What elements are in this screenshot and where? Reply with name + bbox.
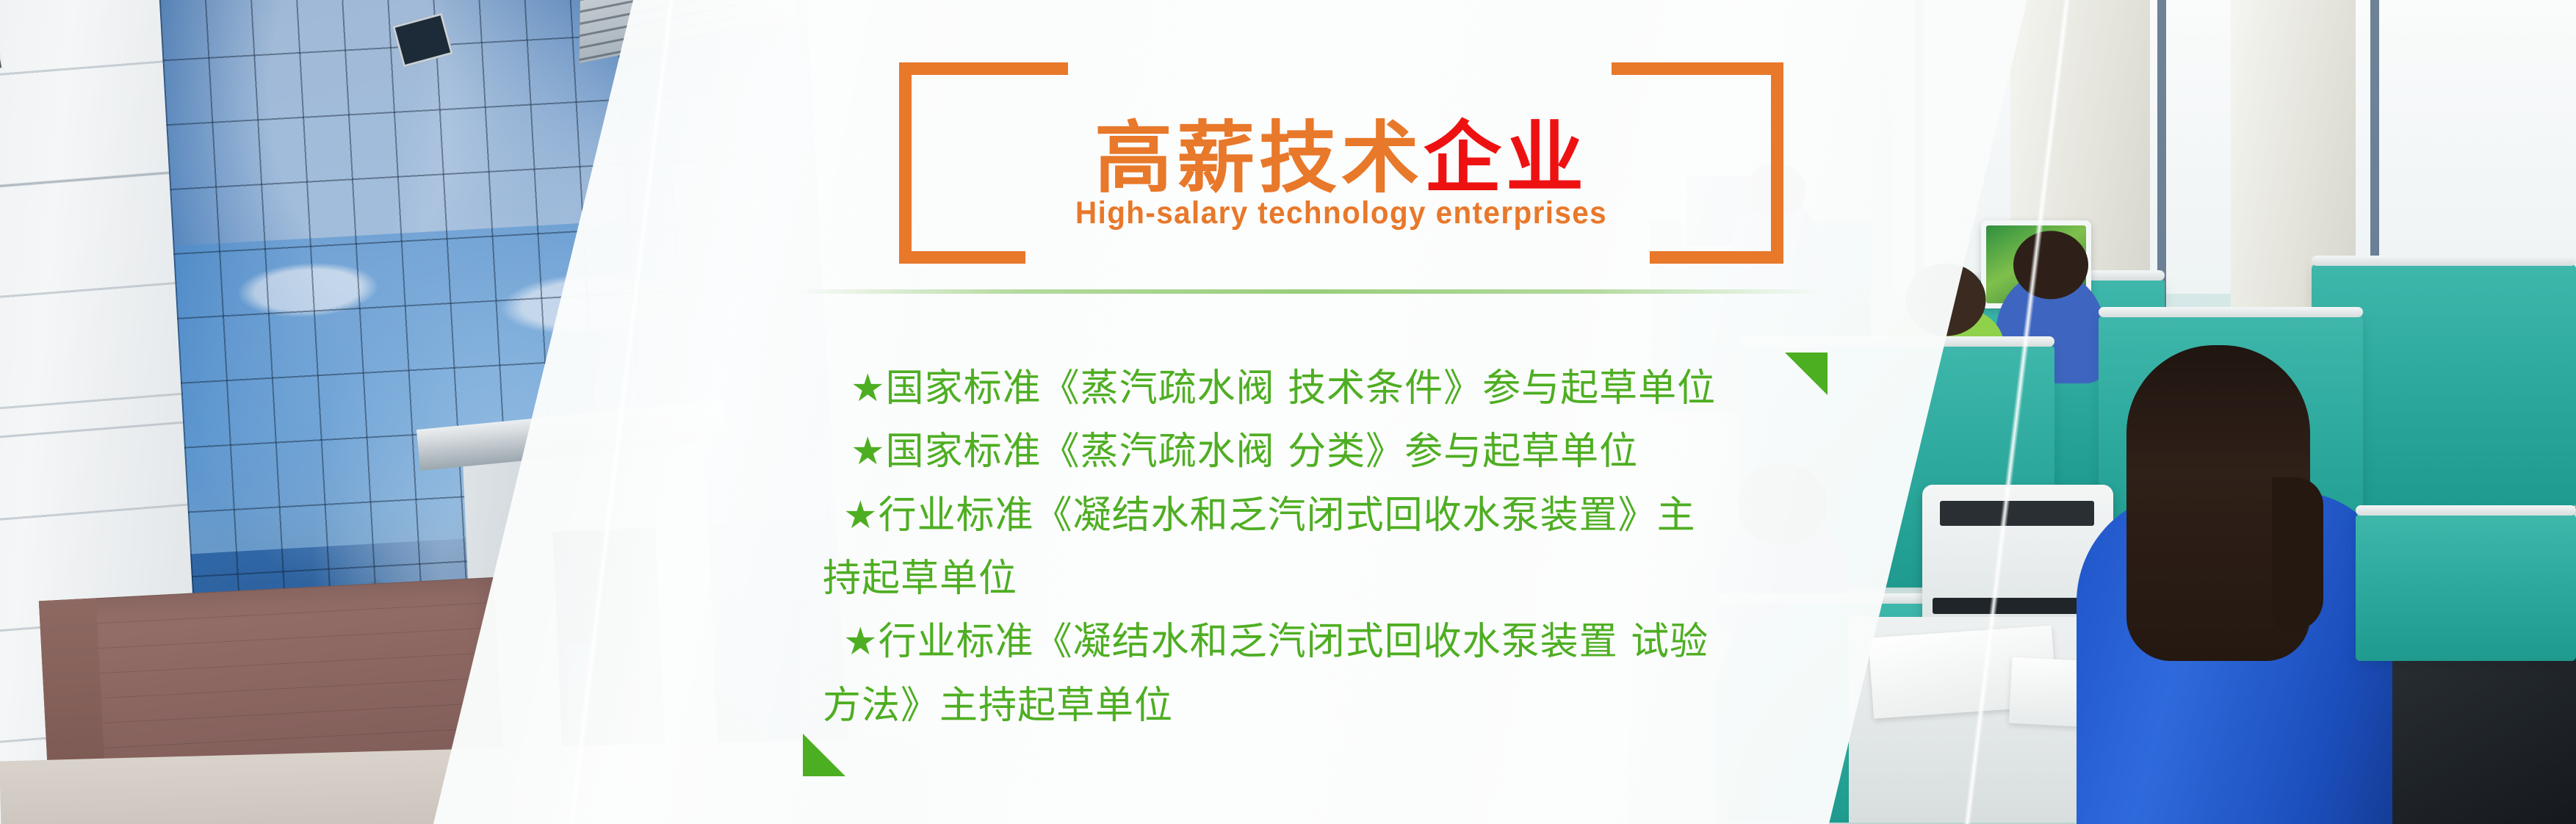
list-item: ★行业标准《凝结水和乏汽闭式回收水泵装置 试验 bbox=[823, 610, 1836, 673]
bracket-bottom-left-bar bbox=[899, 251, 1025, 264]
bracket-top-left-bar bbox=[899, 62, 1068, 75]
bracket-top-right-bar bbox=[1612, 62, 1783, 75]
list-item: ★国家标准《蒸汽疏水阀 分类》参与起草单位 bbox=[823, 420, 1836, 483]
list-item: ★国家标准《蒸汽疏水阀 技术条件》参与起草单位 bbox=[823, 357, 1836, 420]
title-part-orange: 高薪技术 bbox=[1094, 113, 1424, 203]
list-item: ★行业标准《凝结水和乏汽闭式回收水泵装置》主 bbox=[823, 484, 1836, 547]
list-item-cont: 方法》主持起草单位 bbox=[823, 674, 1836, 737]
triangle-marker-bottom-left bbox=[803, 734, 845, 776]
banner-subtitle: High-salary technology enterprises bbox=[926, 195, 1757, 231]
banner-title: 高薪技术企业 bbox=[899, 120, 1783, 198]
bracket-bottom-right-bar bbox=[1650, 251, 1783, 264]
achievement-list: ★国家标准《蒸汽疏水阀 技术条件》参与起草单位 ★国家标准《蒸汽疏水阀 分类》参… bbox=[823, 357, 1836, 737]
banner-content: 高薪技术企业 High-salary technology enterprise… bbox=[0, 0, 2576, 824]
title-part-red: 企业 bbox=[1424, 113, 1588, 203]
promo-banner: 高薪技术企业 High-salary technology enterprise… bbox=[0, 0, 2576, 824]
green-divider bbox=[793, 289, 1822, 294]
list-item-cont: 持起草单位 bbox=[823, 547, 1836, 610]
